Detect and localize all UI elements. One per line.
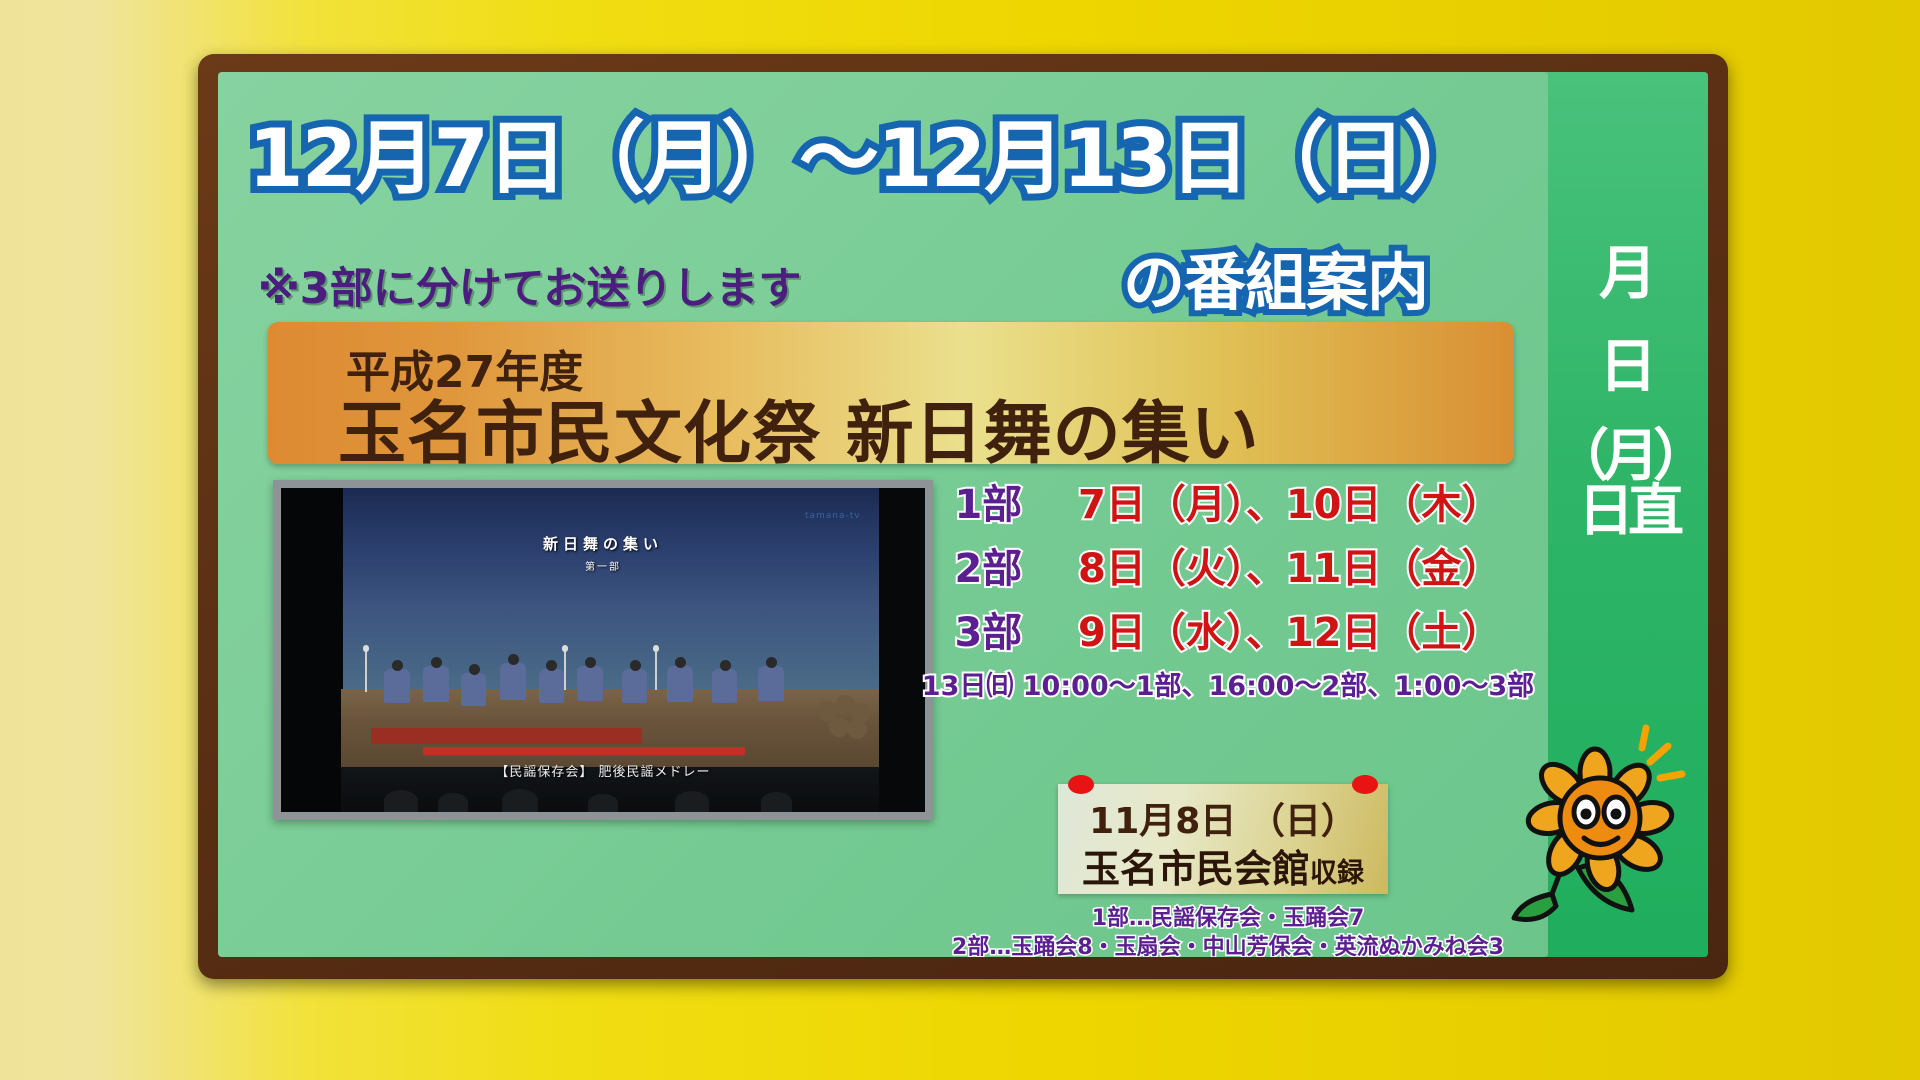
schedule-part-label: 3部 <box>954 610 1022 656</box>
performer <box>667 666 693 702</box>
taiko-drums <box>817 695 873 741</box>
video-overlay-caption: 【民謡保存会】 肥後民謡メドレー <box>281 761 925 780</box>
video-screen: 新日舞の集い 第一部 【民謡保存会】 肥後民謡メドレー tamana-tv <box>281 488 925 812</box>
performer <box>712 669 737 703</box>
performer <box>423 666 449 702</box>
recording-venue: 玉名市民会館 <box>1082 847 1310 891</box>
sunflower-mascot-icon <box>1500 718 1690 928</box>
three-parts-note: ※3部に分けてお送りします <box>258 254 801 316</box>
vertical-char-day: 日 <box>1548 335 1708 398</box>
performer <box>539 669 564 703</box>
schedule-part-label: 2部 <box>954 546 1022 592</box>
recording-venue-line: 玉名市民会館収録 <box>1058 838 1388 893</box>
bulletin-board-inner: 12月7日（月）〜12月13日（日） の番組案内 ※3部に分けてお送りします 平… <box>218 72 1708 957</box>
performer <box>500 663 526 700</box>
performer <box>577 666 603 701</box>
vertical-char-duty: 日直 <box>1548 482 1708 542</box>
schedule-dates: 9日（水）、12日（土） <box>1078 610 1502 656</box>
vertical-strip-text: 月 日 （月） 日直 <box>1548 242 1708 542</box>
schedule-dates: 8日（火）、11日（金） <box>1078 546 1502 592</box>
broadcaster-logo: tamana-tv <box>805 511 861 521</box>
program-row: 2部…玉踊会8・玉扇会・中山芳保会・英流ぬかみね会3 <box>918 933 1538 957</box>
video-red-stripe <box>423 747 745 755</box>
program-row: 1部…民謡保存会・玉踊会7 <box>918 904 1538 933</box>
recording-info-box: 11月8日 （日） 玉名市民会館収録 <box>1058 784 1388 894</box>
headline-program-guide: の番組案内 <box>1123 232 1428 322</box>
sunday-times-note: 13日㈰ 10:00〜1部、16:00〜2部、1:00〜3部 <box>918 664 1538 703</box>
microphone-stand <box>655 650 657 690</box>
video-overlay-title: 新日舞の集い <box>281 533 925 554</box>
performer <box>758 666 784 701</box>
banner-title: 玉名市民文化祭 新日舞の集い <box>338 378 1260 477</box>
recording-suffix: 収録 <box>1310 858 1364 889</box>
schedule-list: 1部 7日（月）、10日（木） 2部 8日（火）、11日（金） 3部 9日（水）… <box>918 472 1538 703</box>
recording-date: 11月8日 （日） <box>1058 792 1388 844</box>
event-banner: 平成27年度 玉名市民文化祭 新日舞の集い <box>268 322 1514 464</box>
schedule-dates: 7日（月）、10日（木） <box>1078 482 1502 528</box>
performer <box>461 673 486 706</box>
video-thumbnail[interactable]: 新日舞の集い 第一部 【民謡保存会】 肥後民謡メドレー tamana-tv <box>273 480 933 820</box>
main-green-panel: 12月7日（月）〜12月13日（日） の番組案内 ※3部に分けてお送りします 平… <box>218 72 1548 957</box>
video-red-carpet <box>371 728 641 744</box>
program-group-list: 1部…民謡保存会・玉踊会7 2部…玉踊会8・玉扇会・中山芳保会・英流ぬかみね会3… <box>918 904 1538 957</box>
vertical-char-month: 月 <box>1548 242 1708 305</box>
video-overlay-subtitle: 第一部 <box>281 558 925 573</box>
schedule-row: 2部 8日（火）、11日（金） <box>918 536 1538 594</box>
microphone-stand <box>365 650 367 692</box>
headline-date-range: 12月7日（月）〜12月13日（日） <box>248 94 1482 210</box>
schedule-row: 1部 7日（月）、10日（木） <box>918 472 1538 530</box>
bulletin-board-frame: 12月7日（月）〜12月13日（日） の番組案内 ※3部に分けてお送りします 平… <box>198 54 1728 979</box>
performer <box>384 669 410 703</box>
performer <box>622 669 647 703</box>
schedule-part-label: 1部 <box>954 482 1022 528</box>
schedule-row: 3部 9日（水）、12日（土） <box>918 600 1538 658</box>
microphone-stand <box>564 650 566 690</box>
